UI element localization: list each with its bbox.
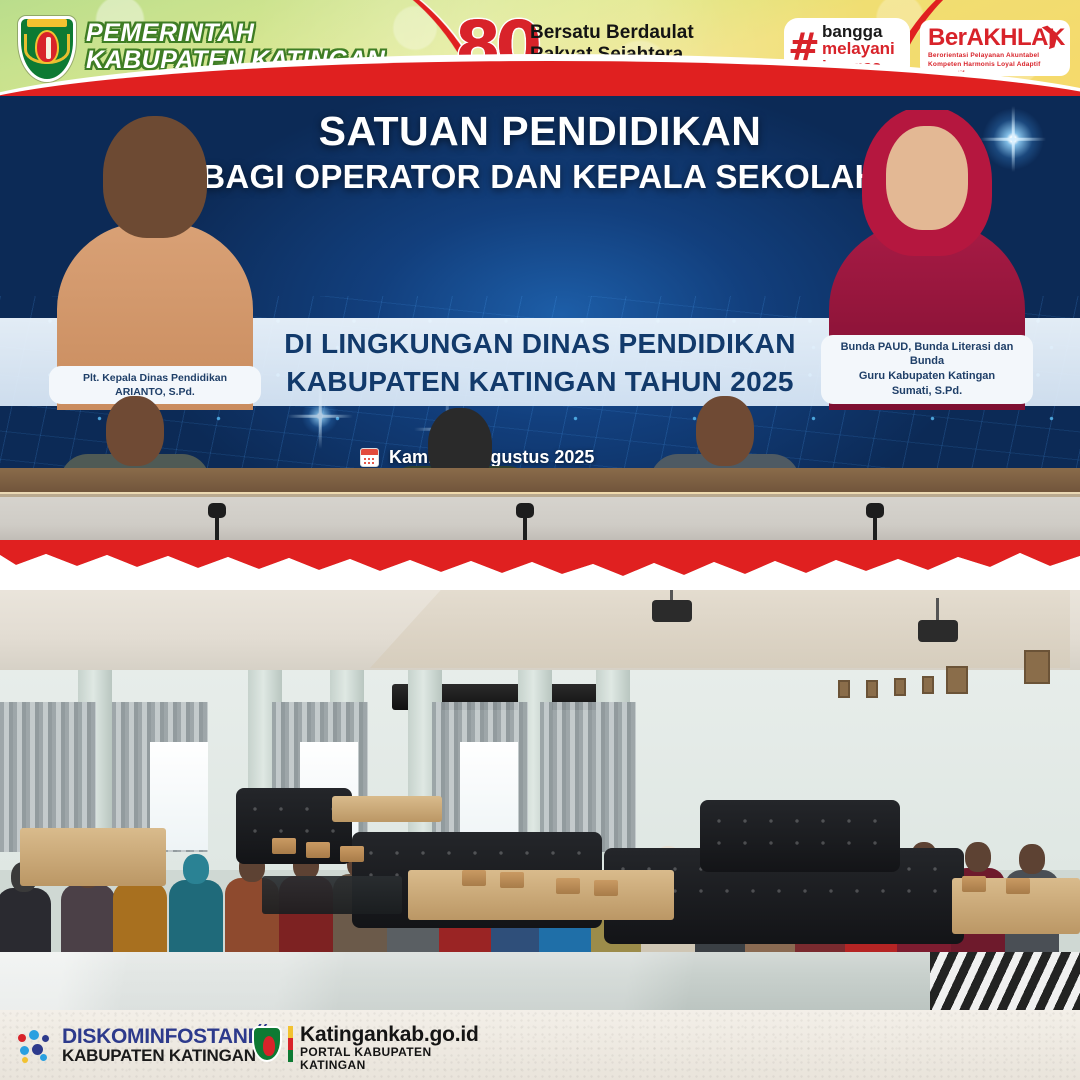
portrait-right-role2: Guru Kabupaten Katingan	[825, 369, 1029, 384]
projector-icon	[652, 600, 692, 622]
banner-portrait-left: Plt. Kepala Dinas Pendidikan ARIANTO, S.…	[46, 110, 264, 410]
projector-icon	[918, 620, 958, 642]
coffee-table-wood	[408, 870, 674, 920]
banner-portrait-right-caption: Bunda PAUD, Bunda Literasi dan Bunda Gur…	[821, 335, 1033, 404]
flag-stripe-icon	[288, 1026, 293, 1062]
sofa	[700, 800, 900, 872]
slogan-line1: Bersatu Berdaulat	[530, 22, 694, 44]
snack-box	[962, 876, 986, 892]
government-line1: PEMERINTAH	[86, 20, 385, 47]
banner-portrait-left-caption: Plt. Kepala Dinas Pendidikan ARIANTO, S.…	[49, 366, 261, 404]
wall-portrait-frame	[922, 676, 934, 694]
side-table-wood	[332, 796, 442, 822]
portrait-left-name: ARIANTO, S.Pd.	[53, 385, 257, 399]
torn-paper-shape	[0, 540, 1080, 590]
calendar-icon	[360, 448, 379, 467]
snack-box	[1006, 878, 1030, 894]
wall-portrait-frame	[1024, 650, 1050, 684]
bangga-word2: melayani	[822, 40, 895, 57]
audience-photo	[0, 560, 1080, 1010]
red-torn-divider	[0, 540, 1080, 590]
header-banner: PEMERINTAH KABUPATEN KATINGAN 80 Bersatu…	[0, 0, 1080, 96]
wall-portrait-frame	[946, 666, 968, 694]
diskominfo-line2: KABUPATEN KATINGAN	[62, 1047, 268, 1064]
window-curtain	[540, 702, 636, 852]
portal-line1: Katingankab.go.id	[300, 1024, 479, 1046]
poster-page: PEMERINTAH KABUPATEN KATINGAN 80 Bersatu…	[0, 0, 1080, 1080]
portal-line2: PORTAL KABUPATEN KATINGAN	[300, 1046, 479, 1071]
diskominfo-line1: DISKOMINFOSTANDI	[62, 1026, 268, 1047]
bangga-word1: bangga	[822, 23, 895, 40]
snack-box	[306, 842, 330, 858]
snack-box	[500, 872, 524, 888]
portal-text: Katingankab.go.id PORTAL KABUPATEN KATIN…	[300, 1024, 479, 1071]
wall-portrait-frame	[894, 678, 906, 696]
coffee-table-glass	[262, 876, 402, 914]
coffee-table-wood	[20, 828, 166, 886]
stage-photo: SATUAN PENDIDIKAN BAGI OPERATOR DAN KEPA…	[0, 96, 1080, 548]
portrait-left-role: Plt. Kepala Dinas Pendidikan	[53, 371, 257, 385]
berakhlak-logo: BerAKHLAK ❯ Berorientasi Pelayanan Akunt…	[920, 20, 1070, 76]
katingan-coat-of-arms-icon	[18, 12, 76, 82]
network-dots-icon	[18, 1030, 52, 1062]
portrait-right-role1: Bunda PAUD, Bunda Literasi dan Bunda	[825, 340, 1029, 370]
wall-portrait-frame	[838, 680, 850, 698]
floor-reflection	[0, 952, 1080, 1010]
snack-box	[340, 846, 364, 862]
snack-box	[462, 870, 486, 886]
footer-bar: DISKOMINFOSTANDI KABUPATEN KATINGAN ((· …	[0, 1010, 1080, 1080]
diskominfo-text: DISKOMINFOSTANDI KABUPATEN KATINGAN	[62, 1026, 268, 1064]
snack-box	[594, 880, 618, 896]
banner-portrait-right: Bunda PAUD, Bunda Literasi dan Bunda Gur…	[818, 110, 1036, 410]
wall-portrait-frame	[866, 680, 878, 698]
snack-box	[556, 878, 580, 894]
snack-box	[272, 838, 296, 854]
patterned-ottoman	[930, 952, 1080, 1010]
portrait-right-name: Sumati, S.Pd.	[825, 384, 1029, 399]
